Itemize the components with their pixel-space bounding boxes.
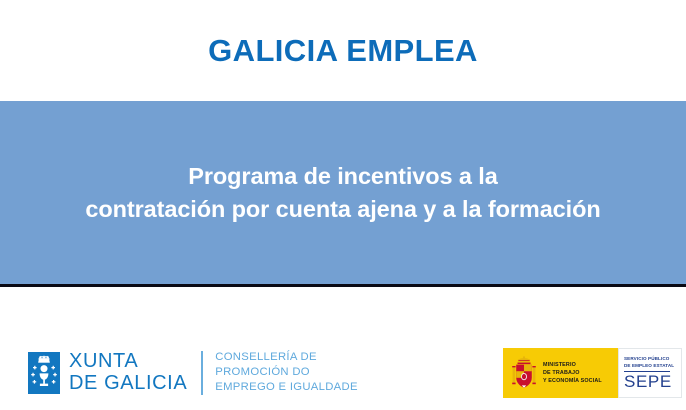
- sepe-full-name: SERVICIO PÚBLICO DE EMPLEO ESTATAL: [624, 356, 674, 369]
- ministerio-line-1: MINISTERIO: [543, 361, 602, 369]
- program-banner: Programa de incentivos a la contratación…: [0, 101, 686, 284]
- conselleria-line-1: CONSELLERÍA DE: [215, 350, 358, 365]
- conselleria-line-2: PROMOCIÓN DO: [215, 365, 358, 380]
- ministerio-line-2: DE TRABAJO: [543, 369, 602, 377]
- program-banner-line-1: Programa de incentivos a la: [85, 160, 600, 192]
- xunta-wordmark: XUNTA DE GALICIA: [69, 351, 187, 393]
- ministerio-wordmark: MINISTERIO DE TRABAJO Y ECONOMÍA SOCIAL: [543, 361, 602, 385]
- spain-coat-of-arms-icon: [511, 355, 537, 391]
- xunta-de-galicia-logo: XUNTA DE GALICIA CONSELLERÍA DE PROMOCIÓ…: [28, 350, 358, 395]
- ministerio-de-trabajo-logo: MINISTERIO DE TRABAJO Y ECONOMÍA SOCIAL: [503, 348, 618, 398]
- logo-divider: [201, 351, 203, 395]
- sepe-line-1: SERVICIO PÚBLICO: [624, 356, 674, 363]
- page-title: GALICIA EMPLEA: [208, 35, 478, 66]
- conselleria-line-3: EMPREGO E IGUALDADE: [215, 380, 358, 395]
- xunta-wordmark-line-2: DE GALICIA: [69, 373, 187, 394]
- program-banner-text: Programa de incentivos a la contratación…: [75, 160, 610, 225]
- sepe-line-2: DE EMPLEO ESTATAL: [624, 363, 674, 370]
- xunta-wordmark-line-1: XUNTA: [69, 351, 187, 372]
- xunta-coat-of-arms-icon: [28, 352, 60, 394]
- sepe-acronym: SEPE: [624, 373, 672, 390]
- header-bar: GALICIA EMPLEA: [0, 0, 686, 101]
- ministerio-line-3: Y ECONOMÍA SOCIAL: [543, 377, 602, 385]
- sepe-logo: SERVICIO PÚBLICO DE EMPLEO ESTATAL SEPE: [618, 348, 682, 398]
- program-banner-line-2: contratación por cuenta ajena y a la for…: [85, 193, 600, 225]
- conselleria-wordmark: CONSELLERÍA DE PROMOCIÓN DO EMPREGO E IG…: [215, 350, 358, 395]
